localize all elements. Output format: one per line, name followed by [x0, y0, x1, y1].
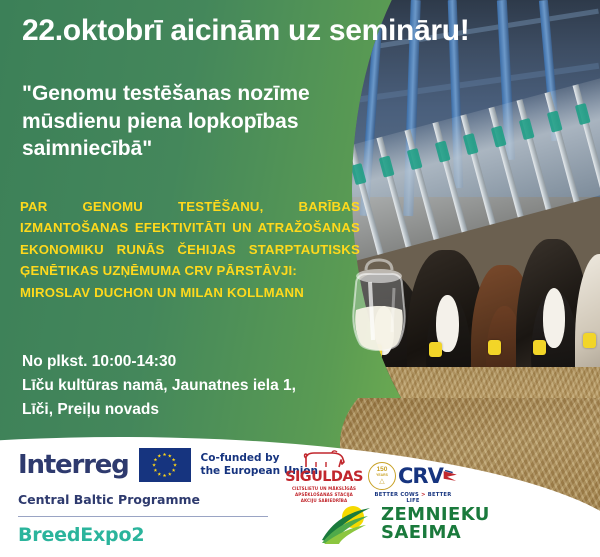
- seminar-poster: 22.oktobrī aicinām uz semināru! "Genomu …: [0, 0, 600, 557]
- crv-tagline-separator: >: [421, 492, 426, 498]
- event-details: No plkst. 10:00-14:30 Līču kultūras namā…: [22, 350, 392, 422]
- programme-name: Central Baltic Programme: [18, 492, 200, 507]
- subtitle-line: "Genomu testēšanas nozīme: [22, 80, 382, 108]
- siguldas-subtext-line: AKCIJU SABIEDRĪBA: [283, 498, 365, 504]
- siguldas-wordmark: SIGULDAS: [283, 470, 365, 485]
- eu-star: [172, 458, 176, 462]
- eu-star: [157, 472, 161, 476]
- eu-star: [163, 474, 167, 478]
- zemnieku-saeima-wordmark: ZEMNIEKU SAEIMA: [381, 506, 490, 543]
- crv-anniversary-badge: 150 YEARS △: [368, 462, 396, 490]
- eu-star: [157, 454, 161, 458]
- siguldas-subtext-line: CILTSLIETU UN MĀKSLĪGĀS: [283, 486, 365, 492]
- footer-divider: [18, 516, 268, 517]
- event-time: No plkst. 10:00-14:30: [22, 350, 392, 374]
- speakers-description: PAR GENOMU TESTĒŠANU, BARĪBAS IZMANTOŠAN…: [20, 196, 360, 282]
- eu-star: [153, 468, 157, 472]
- crv-swoosh-icon: [443, 465, 458, 487]
- eu-star: [152, 463, 156, 467]
- eu-star: [153, 458, 157, 462]
- zemnieku-saeima-logo: ZEMNIEKU SAEIMA: [322, 504, 490, 544]
- zemnieku-saeima-mark: [322, 504, 374, 544]
- subtitle-line: mūsdienu piena lopkopības: [22, 108, 382, 136]
- eu-flag-icon: [139, 448, 191, 482]
- siguldas-logo: SIGULDAS CILTSLIETU UN MĀKSLĪGĀS APSĒKLO…: [283, 450, 365, 504]
- siguldas-subtext: CILTSLIETU UN MĀKSLĪGĀS APSĒKLOŠANAS STA…: [283, 486, 365, 504]
- zemnieku-line2: SAEIMA: [381, 524, 490, 542]
- crv-tagline: BETTER COWS > BETTER LIFE: [368, 492, 458, 504]
- speakers-block: PAR GENOMU TESTĒŠANU, BARĪBAS IZMANTOŠAN…: [20, 196, 360, 303]
- speakers-names: MIROSLAV DUCHON UN MILAN KOLLMANN: [20, 282, 360, 303]
- event-location: Līči, Preiļu novads: [22, 398, 392, 422]
- subtitle-line: saimniecībā": [22, 135, 382, 163]
- badge-cow-icon: △: [379, 478, 384, 485]
- page-title: 22.oktobrī aicinām uz semināru!: [22, 14, 582, 48]
- ear-tag: [488, 340, 501, 355]
- crv-wordmark: CRV: [398, 464, 443, 488]
- ear-tag: [429, 342, 442, 357]
- eu-star: [168, 472, 172, 476]
- ear-tag: [583, 333, 596, 348]
- event-venue: Līču kultūras namā, Jaunatnes iela 1,: [22, 374, 392, 398]
- bull-icon: [302, 450, 346, 469]
- ear-tag: [533, 340, 546, 355]
- siguldas-subtext-line: APSĒKLOŠANAS STACIJA: [283, 492, 365, 498]
- interreg-logo: Interreg Co-funded by the European Union: [18, 448, 318, 482]
- project-name: BreedExpo2: [18, 524, 144, 546]
- eu-star: [168, 454, 172, 458]
- crv-logo: 150 YEARS △ CRV BETTER COWS > BETTER LIF…: [368, 462, 458, 504]
- eu-star: [172, 468, 176, 472]
- interreg-wordmark: Interreg: [18, 450, 129, 480]
- cow-blaze: [543, 288, 565, 348]
- eu-star: [173, 463, 177, 467]
- seminar-subtitle: "Genomu testēšanas nozīme mūsdienu piena…: [22, 80, 382, 163]
- eu-star: [163, 453, 167, 457]
